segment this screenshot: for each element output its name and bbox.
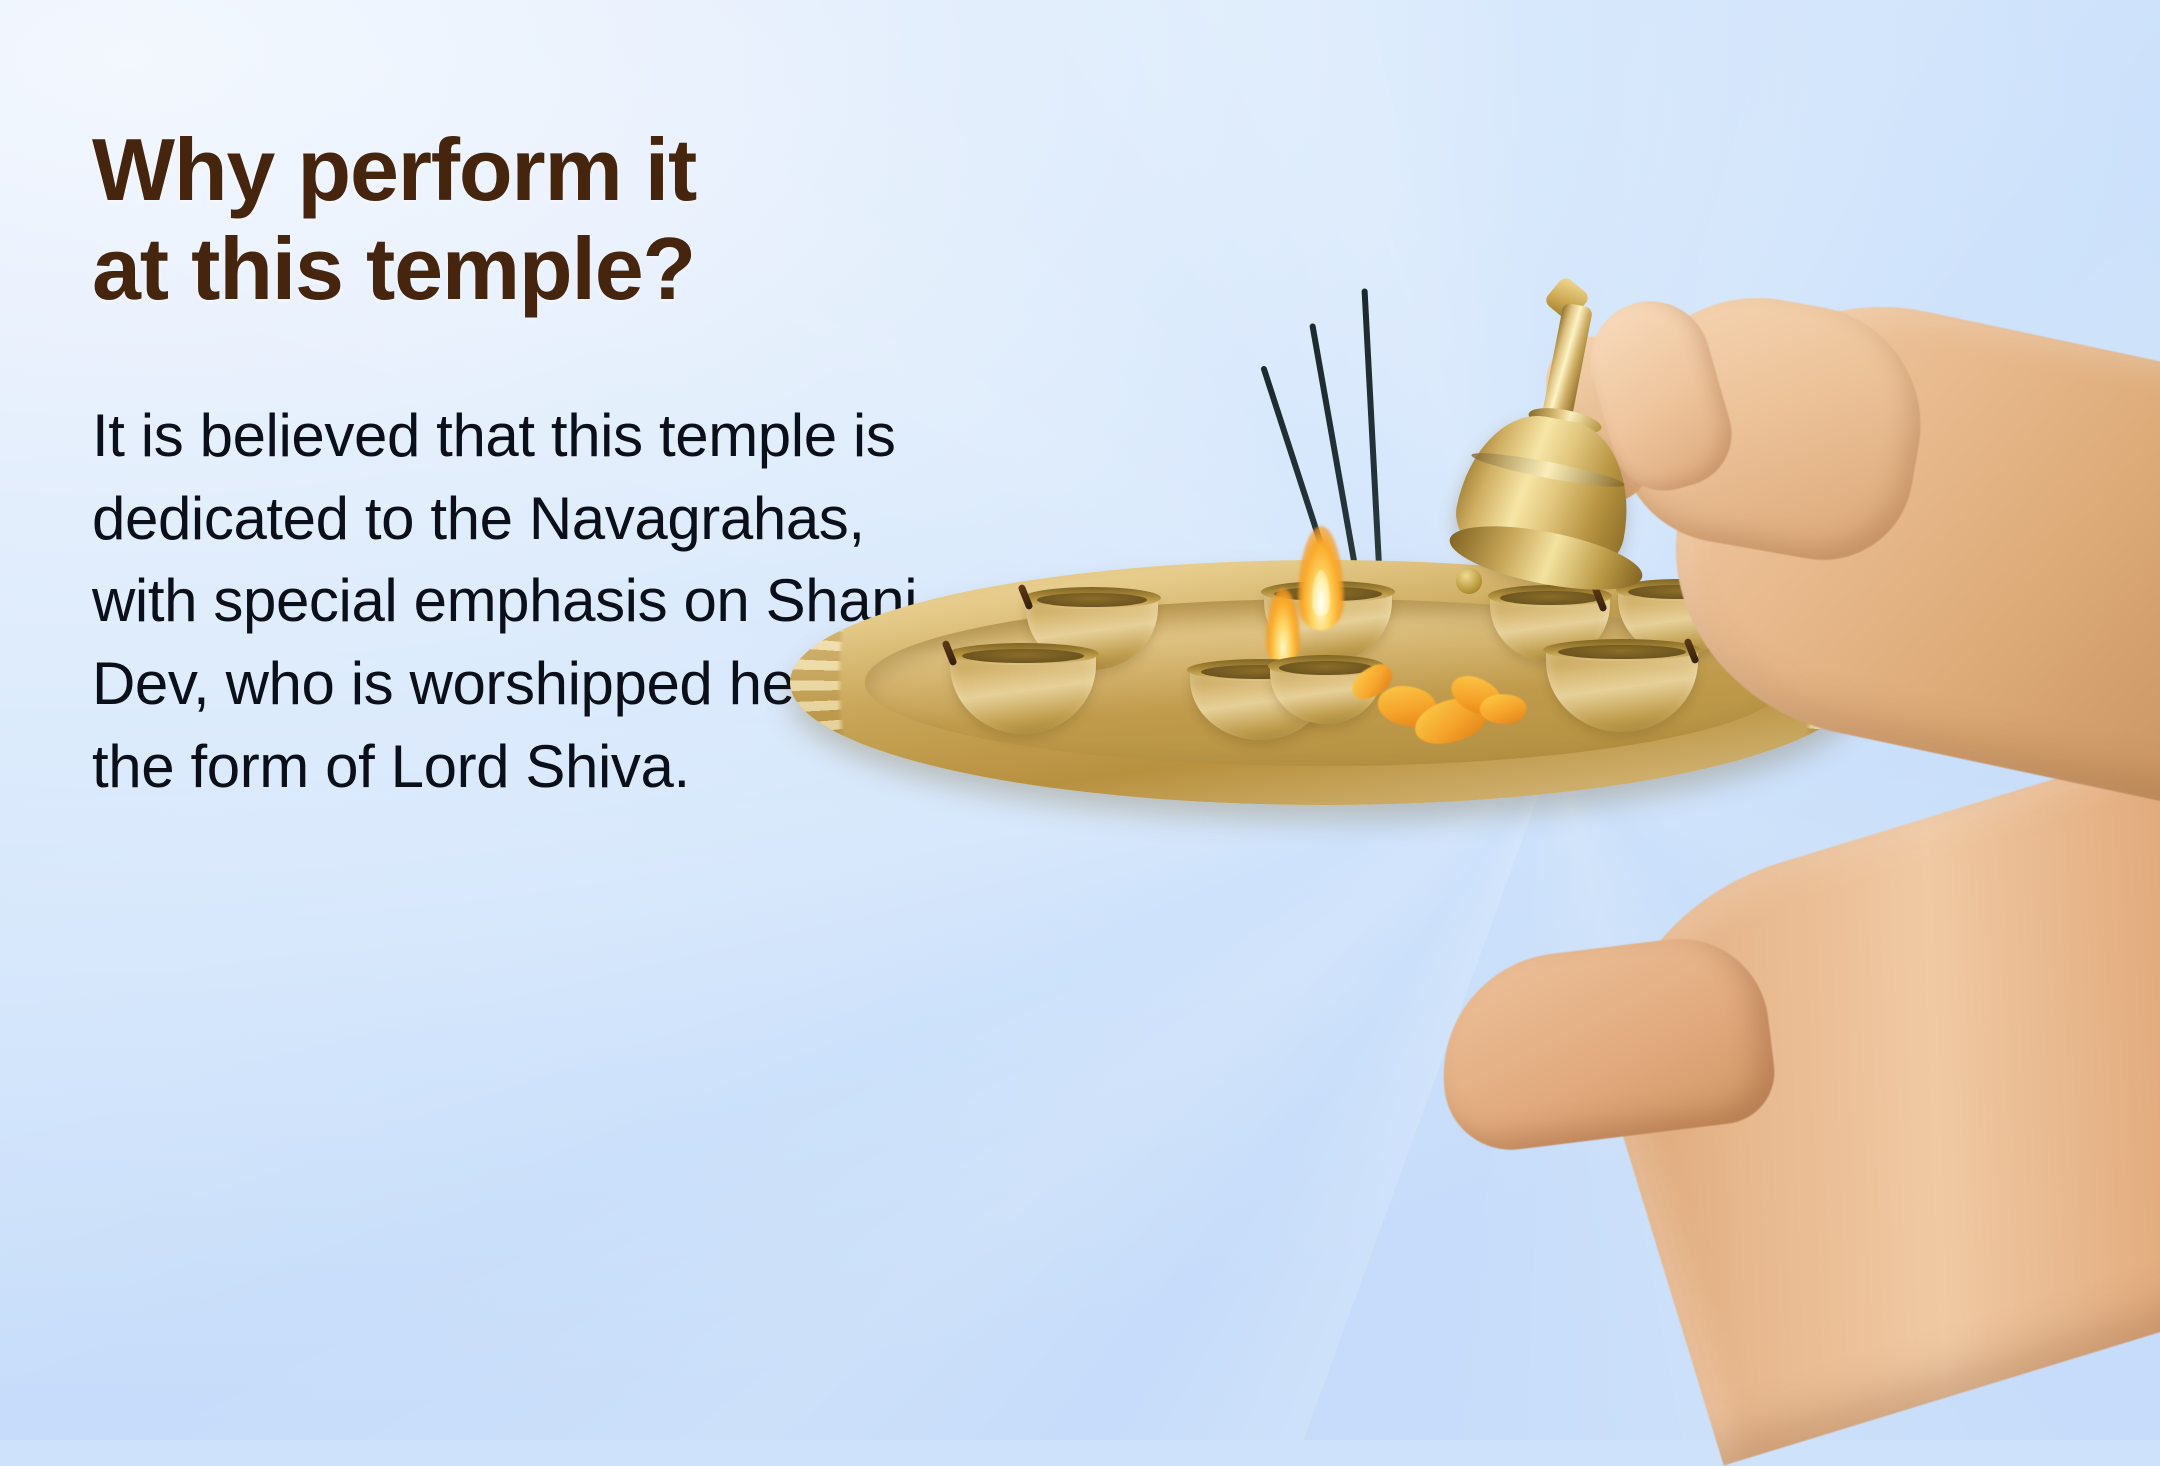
lower-palm — [1430, 929, 1781, 1158]
page-title: Why perform it at this temple? — [92, 120, 952, 319]
puja-photo — [1040, 0, 2160, 1440]
brass-bell — [1432, 282, 1692, 582]
